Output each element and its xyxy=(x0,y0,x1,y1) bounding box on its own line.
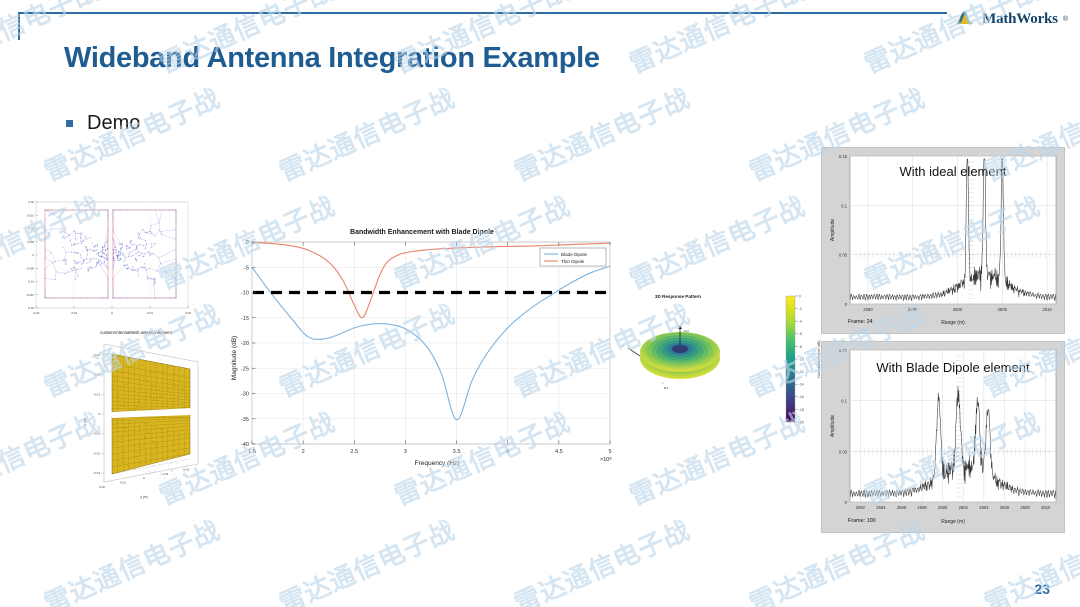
svg-text:-4: -4 xyxy=(799,320,802,324)
svg-text:El 0: El 0 xyxy=(664,387,669,390)
svg-text:0.02: 0.02 xyxy=(94,373,100,377)
radar-blade-plot: 2592259425962598260026022604260626082610… xyxy=(822,342,1064,532)
svg-text:-5: -5 xyxy=(244,265,249,271)
mesh2d-plot: -0.02-0.0100.010.020.020.0150.010.0050-0… xyxy=(12,196,194,324)
svg-text:2610: 2610 xyxy=(1042,307,1052,312)
figure-mesh2d: -0.02-0.0100.010.020.020.0150.010.0050-0… xyxy=(12,196,194,324)
bandwidth-xlabel: Frequency (Hz) xyxy=(415,460,460,467)
radar-blade-ylabel: Amplitude xyxy=(830,415,836,437)
radar-ideal-status: Frame: 24 xyxy=(848,319,873,325)
slide-canvas: MathWorks ® Wideband Antenna Integration… xyxy=(0,0,1080,607)
figure-radar-blade: 2592259425962598260026022604260626082610… xyxy=(822,342,1064,532)
svg-text:0.02: 0.02 xyxy=(185,311,191,315)
svg-text:-0.01: -0.01 xyxy=(162,472,169,476)
svg-text:-15: -15 xyxy=(241,316,249,322)
header-corner-bracket xyxy=(18,12,1065,40)
svg-text:2610: 2610 xyxy=(1041,505,1051,510)
radar-ideal-plot: 2590259526002605261000.050.10.15 With id… xyxy=(822,148,1064,333)
svg-text:-16: -16 xyxy=(799,395,804,399)
svg-text:4: 4 xyxy=(506,449,509,455)
svg-text:-35: -35 xyxy=(241,417,249,423)
svg-text:0.005: 0.005 xyxy=(27,240,34,244)
svg-text:-10: -10 xyxy=(799,357,804,361)
svg-text:-10: -10 xyxy=(241,291,249,297)
svg-text:-0.03: -0.03 xyxy=(93,471,100,475)
watermark-text: 雷达通信电子战 xyxy=(508,78,696,189)
radar-blade-xlabel: Range (m) xyxy=(941,519,965,525)
svg-text:2590: 2590 xyxy=(863,307,873,312)
bandwidth-chart-title: Bandwidth Enhancement with Blade Dipole xyxy=(350,229,494,236)
svg-text:3.5: 3.5 xyxy=(453,449,461,455)
watermark-text: 雷达通信电子战 xyxy=(38,510,226,607)
page-title: Wideband Antenna Integration Example xyxy=(64,42,600,75)
svg-text:-0.01: -0.01 xyxy=(93,432,100,436)
svg-text:-0.015: -0.015 xyxy=(26,293,34,297)
figure-antenna-element-3d: customAntennaMesh antenna element 0.030.… xyxy=(52,322,220,500)
watermark-text: 雷达通信电子战 xyxy=(273,510,461,607)
svg-text:-0.02: -0.02 xyxy=(28,306,35,310)
svg-text:-18: -18 xyxy=(799,408,804,412)
figure-3d-response-pattern: 3D Response Pattern zxyAz 0El 0 xyxy=(618,282,738,410)
svg-text:-30: -30 xyxy=(241,392,249,398)
legend-label: Thin Dipole xyxy=(561,259,585,264)
svg-text:5: 5 xyxy=(608,449,611,455)
bullet-label: Demo xyxy=(87,112,140,135)
svg-text:0: 0 xyxy=(799,294,801,298)
svg-text:0.05: 0.05 xyxy=(839,253,848,258)
svg-text:-20: -20 xyxy=(241,341,249,347)
svg-text:-40: -40 xyxy=(241,442,249,448)
bandwidth-x-multiplier: ×10⁸ xyxy=(600,456,612,463)
radar-ideal-ylabel: Amplitude xyxy=(830,219,836,241)
watermark-text: 雷达通信电子战 xyxy=(508,510,696,607)
svg-text:0.01: 0.01 xyxy=(120,481,126,485)
radar-ideal-window: 2590259526002605261000.050.10.15 With id… xyxy=(822,148,1064,333)
svg-text:-14: -14 xyxy=(799,383,804,387)
svg-text:0.01: 0.01 xyxy=(94,392,100,396)
svg-text:2604: 2604 xyxy=(979,505,989,510)
svg-text:2605: 2605 xyxy=(998,307,1008,312)
svg-text:2595: 2595 xyxy=(908,307,918,312)
svg-text:-0.02: -0.02 xyxy=(33,311,40,315)
watermark-text: 雷达通信电子战 xyxy=(273,78,461,189)
svg-text:0.015: 0.015 xyxy=(27,213,34,217)
svg-text:-0.005: -0.005 xyxy=(26,266,34,270)
svg-text:0.02: 0.02 xyxy=(99,485,105,489)
svg-text:0.02: 0.02 xyxy=(29,200,35,204)
logo-text: MathWorks xyxy=(982,11,1058,28)
svg-text:4.5: 4.5 xyxy=(555,449,563,455)
svg-text:-0.02: -0.02 xyxy=(93,451,100,455)
svg-text:z (m): z (m) xyxy=(83,418,87,425)
page-number: 23 xyxy=(1034,581,1050,597)
svg-text:y (m): y (m) xyxy=(140,495,147,499)
svg-text:0: 0 xyxy=(246,240,249,246)
radar-ideal-annotation: With ideal element xyxy=(900,164,1007,179)
svg-text:2602: 2602 xyxy=(959,505,969,510)
svg-text:0.05: 0.05 xyxy=(839,449,848,454)
radar-blade-window: 2592259425962598260026022604260626082610… xyxy=(822,342,1064,532)
svg-text:-20: -20 xyxy=(799,420,804,424)
svg-text:2: 2 xyxy=(302,449,305,455)
logo-trademark: ® xyxy=(1063,16,1068,23)
pattern3d-title: 3D Response Pattern xyxy=(655,294,701,299)
svg-text:-12: -12 xyxy=(799,370,804,374)
legend-label: Blade Dipole xyxy=(561,252,587,257)
svg-text:-2: -2 xyxy=(799,307,802,311)
svg-text:3: 3 xyxy=(404,449,407,455)
svg-text:2598: 2598 xyxy=(917,505,927,510)
svg-text:1.5: 1.5 xyxy=(248,449,256,455)
svg-text:2594: 2594 xyxy=(876,505,886,510)
svg-text:-25: -25 xyxy=(241,366,249,372)
svg-text:2600: 2600 xyxy=(953,307,963,312)
bandwidth-ylabel: Magnitude (dB) xyxy=(231,336,238,380)
watermark-text: 雷达通信电子战 xyxy=(623,186,811,297)
svg-text:-8: -8 xyxy=(799,345,802,349)
radar-ideal-xlabel: Range (m) xyxy=(941,320,965,326)
antenna3d-plot: customAntennaMesh antenna element 0.030.… xyxy=(52,322,220,500)
svg-text:0.1: 0.1 xyxy=(841,399,847,404)
mathworks-membrane-icon xyxy=(955,9,977,29)
radar-blade-status: Frame: 100 xyxy=(848,518,876,524)
bullet-square-icon xyxy=(66,120,73,127)
svg-text:0.1: 0.1 xyxy=(841,203,847,208)
svg-text:2608: 2608 xyxy=(1020,505,1030,510)
mathworks-logo: MathWorks ® xyxy=(947,6,1068,32)
svg-text:Az 0: Az 0 xyxy=(684,330,689,333)
svg-text:2592: 2592 xyxy=(856,505,866,510)
svg-text:-0.02: -0.02 xyxy=(183,467,190,471)
svg-text:0.15: 0.15 xyxy=(839,154,848,159)
pattern3d-plot: 3D Response Pattern zxyAz 0El 0 xyxy=(618,282,738,410)
svg-text:2.5: 2.5 xyxy=(350,449,358,455)
svg-text:2606: 2606 xyxy=(1000,505,1010,510)
svg-text:-0.01: -0.01 xyxy=(28,280,35,284)
svg-text:0.01: 0.01 xyxy=(29,227,35,231)
radar-blade-annotation: With Blade Dipole element xyxy=(876,360,1030,375)
bullet-item-demo: Demo xyxy=(66,112,140,135)
svg-text:0.15: 0.15 xyxy=(839,348,848,353)
colorbar-label: Normalized Power (dB) xyxy=(817,340,821,377)
bandwidth-chart: Bandwidth Enhancement with Blade Dipole … xyxy=(222,218,622,473)
svg-text:-0.01: -0.01 xyxy=(71,311,78,315)
svg-text:2596: 2596 xyxy=(897,505,907,510)
svg-text:-6: -6 xyxy=(799,332,802,336)
svg-text:0.01: 0.01 xyxy=(147,311,153,315)
svg-text:0.03: 0.03 xyxy=(94,353,100,357)
figure-bandwidth-chart: Bandwidth Enhancement with Blade Dipole … xyxy=(222,218,622,473)
svg-text:2600: 2600 xyxy=(938,505,948,510)
svg-text:customAntennaMesh antenna elem: customAntennaMesh antenna element xyxy=(100,330,173,335)
figure-radar-ideal: 2590259526002605261000.050.10.15 With id… xyxy=(822,148,1064,333)
